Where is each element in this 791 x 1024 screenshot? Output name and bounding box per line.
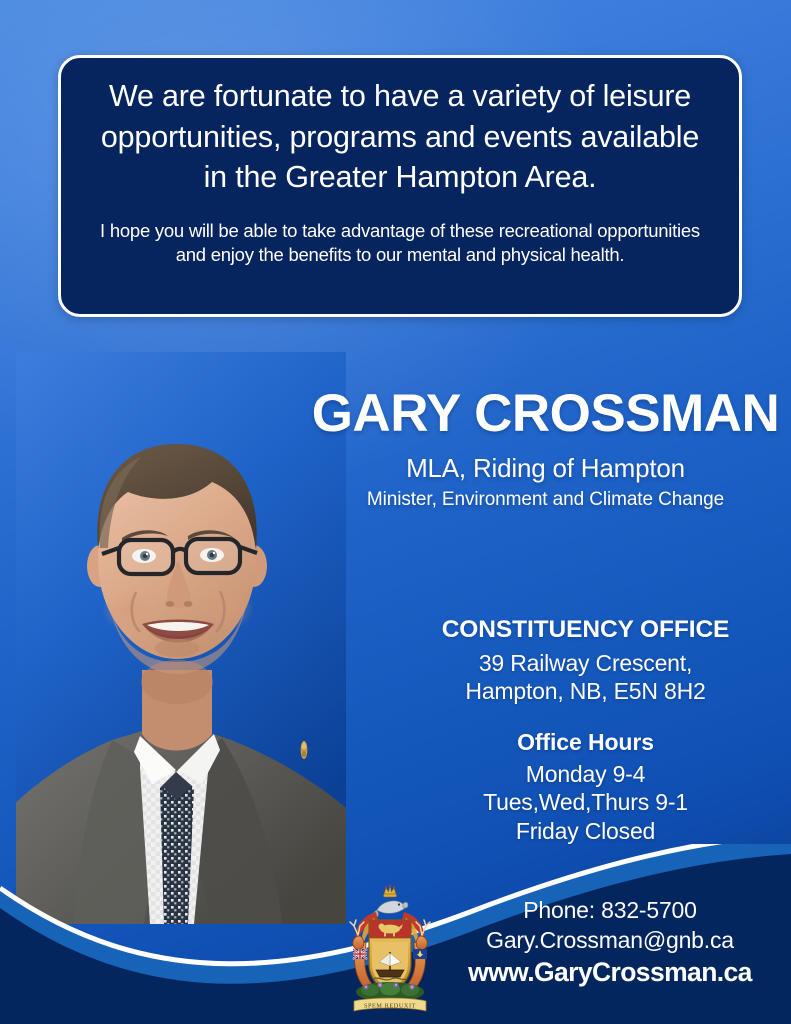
office-address-line-1: 39 Railway Crescent,: [380, 649, 791, 677]
poster-canvas: We are fortunate to have a variety of le…: [0, 0, 791, 1024]
office-hours-line-2: Tues,Wed,Thurs 9-1: [380, 788, 791, 817]
portrait-photo: [16, 352, 346, 924]
new-brunswick-coat-of-arms-icon: SPEM REDUXIT: [336, 884, 444, 1018]
person-name: GARY CROSSMAN: [300, 386, 791, 442]
office-block: CONSTITUENCY OFFICE 39 Railway Crescent,…: [380, 616, 791, 845]
quote-sub-text: I hope you will be able to take advantag…: [87, 219, 713, 267]
office-hours-line-3: Friday Closed: [380, 817, 791, 846]
office-heading: CONSTITUENCY OFFICE: [380, 616, 791, 644]
office-hours-heading: Office Hours: [380, 729, 791, 756]
contact-block: Phone: 832-5700 Gary.Crossman@gnb.ca www…: [440, 896, 780, 988]
contact-email[interactable]: Gary.Crossman@gnb.ca: [440, 926, 780, 956]
quote-main-text: We are fortunate to have a variety of le…: [88, 76, 713, 198]
person-portfolio: Minister, Environment and Climate Change: [300, 489, 791, 511]
person-role: MLA, Riding of Hampton: [300, 453, 791, 484]
crest-motto-text: SPEM REDUXIT: [364, 1003, 416, 1010]
contact-phone[interactable]: Phone: 832-5700: [440, 896, 780, 926]
quote-box: We are fortunate to have a variety of le…: [58, 55, 742, 317]
name-block: GARY CROSSMAN MLA, Riding of Hampton Min…: [300, 386, 791, 511]
contact-website[interactable]: www.GaryCrossman.ca: [440, 957, 780, 988]
office-hours-line-1: Monday 9-4: [380, 760, 791, 789]
office-address-line-2: Hampton, NB, E5N 8H2: [380, 677, 791, 705]
